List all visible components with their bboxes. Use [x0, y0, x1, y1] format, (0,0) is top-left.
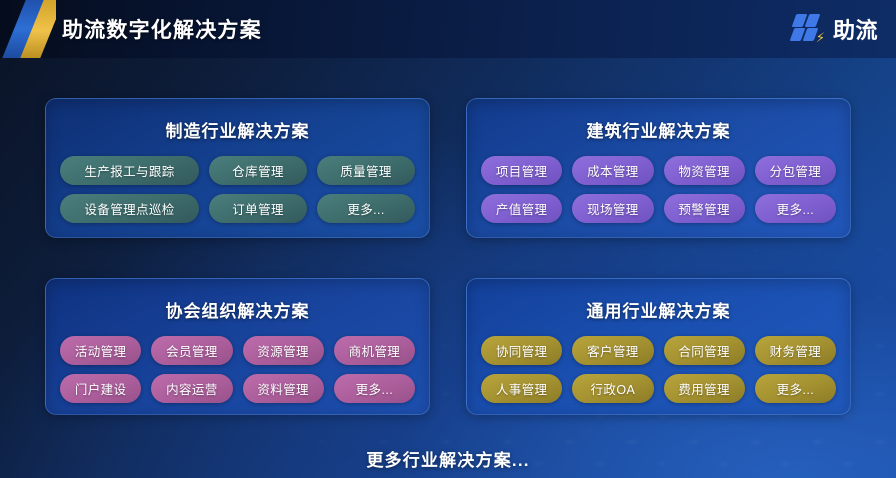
solution-tag[interactable]: 项目管理: [481, 156, 562, 185]
solution-tag[interactable]: 资料管理: [243, 374, 324, 403]
solution-card: 协会组织解决方案活动管理会员管理资源管理商机管理门户建设内容运营资料管理更多..…: [45, 278, 430, 415]
tag-rows: 项目管理成本管理物资管理分包管理产值管理现场管理预警管理更多...: [481, 156, 836, 223]
solution-tag[interactable]: 行政OA: [572, 374, 653, 403]
card-title: 建筑行业解决方案: [587, 117, 731, 142]
tag-rows: 生产报工与跟踪仓库管理质量管理设备管理点巡检订单管理更多...: [60, 156, 415, 223]
solution-tag[interactable]: 活动管理: [60, 336, 141, 365]
solutions-overview-page: 助流数字化解决方案 ⚡ 助流 制造行业解决方案生产报工与跟踪仓库管理质量管理设备…: [0, 0, 896, 478]
tag-rows: 协同管理客户管理合同管理财务管理人事管理行政OA费用管理更多...: [481, 336, 836, 403]
tag-row: 门户建设内容运营资料管理更多...: [60, 374, 415, 403]
solution-tag[interactable]: 设备管理点巡检: [60, 194, 199, 223]
brand-tile: [805, 14, 821, 27]
tag-row: 设备管理点巡检订单管理更多...: [60, 194, 415, 223]
solution-tag[interactable]: 更多...: [317, 194, 415, 223]
solution-tag[interactable]: 物资管理: [664, 156, 745, 185]
solution-tag[interactable]: 质量管理: [317, 156, 415, 185]
solution-tag[interactable]: 更多...: [755, 194, 836, 223]
solution-card: 建筑行业解决方案项目管理成本管理物资管理分包管理产值管理现场管理预警管理更多..…: [466, 98, 851, 238]
solution-tag[interactable]: 生产报工与跟踪: [60, 156, 199, 185]
solution-tag[interactable]: 费用管理: [664, 374, 745, 403]
solution-tag[interactable]: 合同管理: [664, 336, 745, 365]
page-header: 助流数字化解决方案 ⚡ 助流: [0, 0, 896, 58]
solution-tag[interactable]: 内容运营: [151, 374, 232, 403]
solution-card-grid: 制造行业解决方案生产报工与跟踪仓库管理质量管理设备管理点巡检订单管理更多...建…: [45, 98, 851, 415]
solution-tag[interactable]: 更多...: [334, 374, 415, 403]
solution-tag[interactable]: 门户建设: [60, 374, 141, 403]
solution-tag[interactable]: 资源管理: [243, 336, 324, 365]
card-title: 通用行业解决方案: [587, 297, 731, 322]
solution-tag[interactable]: 财务管理: [755, 336, 836, 365]
zhuliu-brand-mark-icon: ⚡: [792, 13, 826, 45]
tag-row: 产值管理现场管理预警管理更多...: [481, 194, 836, 223]
solution-tag[interactable]: 仓库管理: [209, 156, 307, 185]
tag-row: 项目管理成本管理物资管理分包管理: [481, 156, 836, 185]
solution-tag[interactable]: 产值管理: [481, 194, 562, 223]
solution-card: 通用行业解决方案协同管理客户管理合同管理财务管理人事管理行政OA费用管理更多..…: [466, 278, 851, 415]
tag-row: 活动管理会员管理资源管理商机管理: [60, 336, 415, 365]
tag-row: 人事管理行政OA费用管理更多...: [481, 374, 836, 403]
solution-tag[interactable]: 客户管理: [572, 336, 653, 365]
page-title: 助流数字化解决方案: [62, 14, 262, 44]
solution-tag[interactable]: 更多...: [755, 374, 836, 403]
solution-card: 制造行业解决方案生产报工与跟踪仓库管理质量管理设备管理点巡检订单管理更多...: [45, 98, 430, 238]
zhuliu-parallelogram-logo-icon: [0, 0, 56, 58]
tag-rows: 活动管理会员管理资源管理商机管理门户建设内容运营资料管理更多...: [60, 336, 415, 403]
solution-tag[interactable]: 分包管理: [755, 156, 836, 185]
solution-tag[interactable]: 商机管理: [334, 336, 415, 365]
card-title: 制造行业解决方案: [166, 117, 310, 142]
solution-tag[interactable]: 人事管理: [481, 374, 562, 403]
solution-tag[interactable]: 协同管理: [481, 336, 562, 365]
solution-tag[interactable]: 订单管理: [209, 194, 307, 223]
tag-row: 协同管理客户管理合同管理财务管理: [481, 336, 836, 365]
solution-tag[interactable]: 预警管理: [664, 194, 745, 223]
brand-logo[interactable]: ⚡ 助流: [792, 13, 878, 45]
tag-row: 生产报工与跟踪仓库管理质量管理: [60, 156, 415, 185]
solution-tag[interactable]: 成本管理: [572, 156, 653, 185]
solution-tag[interactable]: 现场管理: [572, 194, 653, 223]
footer: 更多行业解决方案...: [0, 446, 896, 471]
card-title: 协会组织解决方案: [166, 297, 310, 322]
lightning-bolt-icon: ⚡: [815, 31, 826, 45]
more-solutions-label[interactable]: 更多行业解决方案...: [366, 451, 529, 470]
brand-name: 助流: [833, 13, 878, 45]
solution-tag[interactable]: 会员管理: [151, 336, 232, 365]
